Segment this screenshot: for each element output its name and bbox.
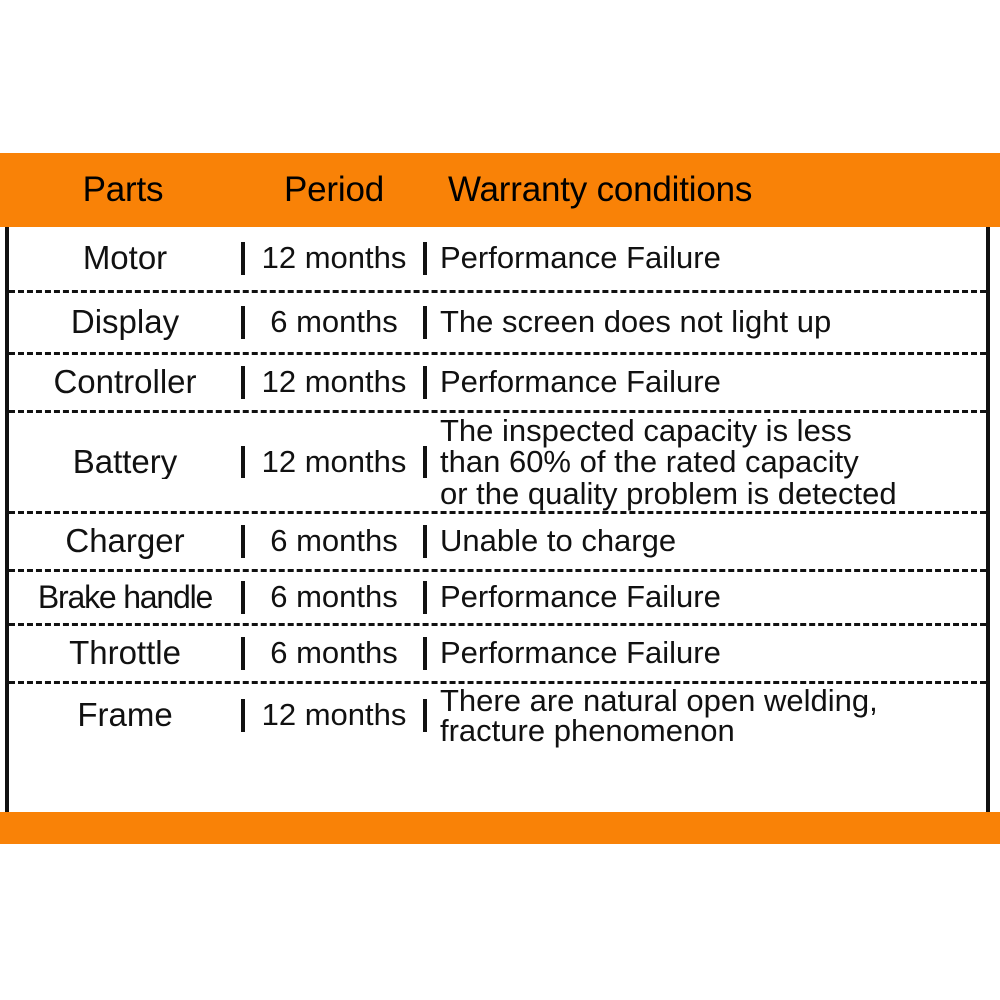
cell-period: 6 months — [241, 525, 427, 558]
condition-line: There are natural open welding, — [440, 686, 984, 716]
condition-line: The screen does not light up — [440, 306, 984, 339]
cell-period: 6 months — [241, 306, 427, 339]
condition-line: Performance Failure — [440, 366, 984, 399]
table-row: Frame 12 months There are natural open w… — [9, 681, 986, 747]
footer-accent-band — [0, 812, 1000, 844]
condition-line: Unable to charge — [440, 525, 984, 558]
cell-period: 12 months — [241, 446, 427, 479]
cell-part: Throttle — [9, 636, 241, 671]
cell-period: 12 months — [241, 699, 427, 732]
table-row: Charger 6 months Unable to charge — [9, 511, 986, 569]
cell-condition: Performance Failure — [427, 581, 986, 614]
cell-period: 12 months — [241, 366, 427, 399]
cell-part: Display — [9, 305, 241, 340]
condition-line: Performance Failure — [440, 581, 984, 614]
condition-line: Performance Failure — [440, 637, 984, 670]
cell-part: Frame — [9, 698, 241, 733]
cell-part: Charger — [9, 524, 241, 559]
table-row: Battery 12 months The inspected capacity… — [9, 410, 986, 511]
cell-condition: Performance Failure — [427, 366, 986, 399]
cell-condition: The screen does not light up — [427, 306, 986, 339]
cell-period: 6 months — [241, 581, 427, 614]
cell-part: Battery — [9, 445, 241, 480]
cell-part: Brake handle — [9, 581, 241, 615]
cell-condition: There are natural open welding, fracture… — [427, 686, 986, 746]
table-row: Display 6 months The screen does not lig… — [9, 290, 986, 352]
column-header-parts: Parts — [5, 163, 241, 217]
column-header-period: Period — [241, 163, 427, 217]
condition-line: Performance Failure — [440, 242, 984, 275]
condition-line: The inspected capacity is less — [440, 415, 984, 447]
cell-part: Motor — [9, 241, 241, 276]
cell-condition: Unable to charge — [427, 525, 986, 558]
warranty-table-body: Motor 12 months Performance Failure Disp… — [5, 227, 990, 812]
warranty-table-page: Parts Period Warranty conditions Motor 1… — [0, 0, 1000, 1000]
cell-period: 12 months — [241, 242, 427, 275]
table-row: Brake handle 6 months Performance Failur… — [9, 569, 986, 623]
condition-line: than 60% of the rated capacity — [440, 446, 984, 478]
cell-condition: Performance Failure — [427, 242, 986, 275]
condition-line: or the quality problem is detected — [440, 478, 984, 510]
condition-line: fracture phenomenon — [440, 716, 984, 746]
cell-condition: Performance Failure — [427, 637, 986, 670]
table-row: Controller 12 months Performance Failure — [9, 352, 986, 410]
column-header-warranty-conditions: Warranty conditions — [448, 163, 752, 217]
cell-part: Controller — [9, 365, 241, 400]
table-row: Throttle 6 months Performance Failure — [9, 623, 986, 681]
table-row: Motor 12 months Performance Failure — [9, 227, 986, 290]
cell-period: 6 months — [241, 637, 427, 670]
cell-condition: The inspected capacity is less than 60% … — [427, 415, 986, 510]
